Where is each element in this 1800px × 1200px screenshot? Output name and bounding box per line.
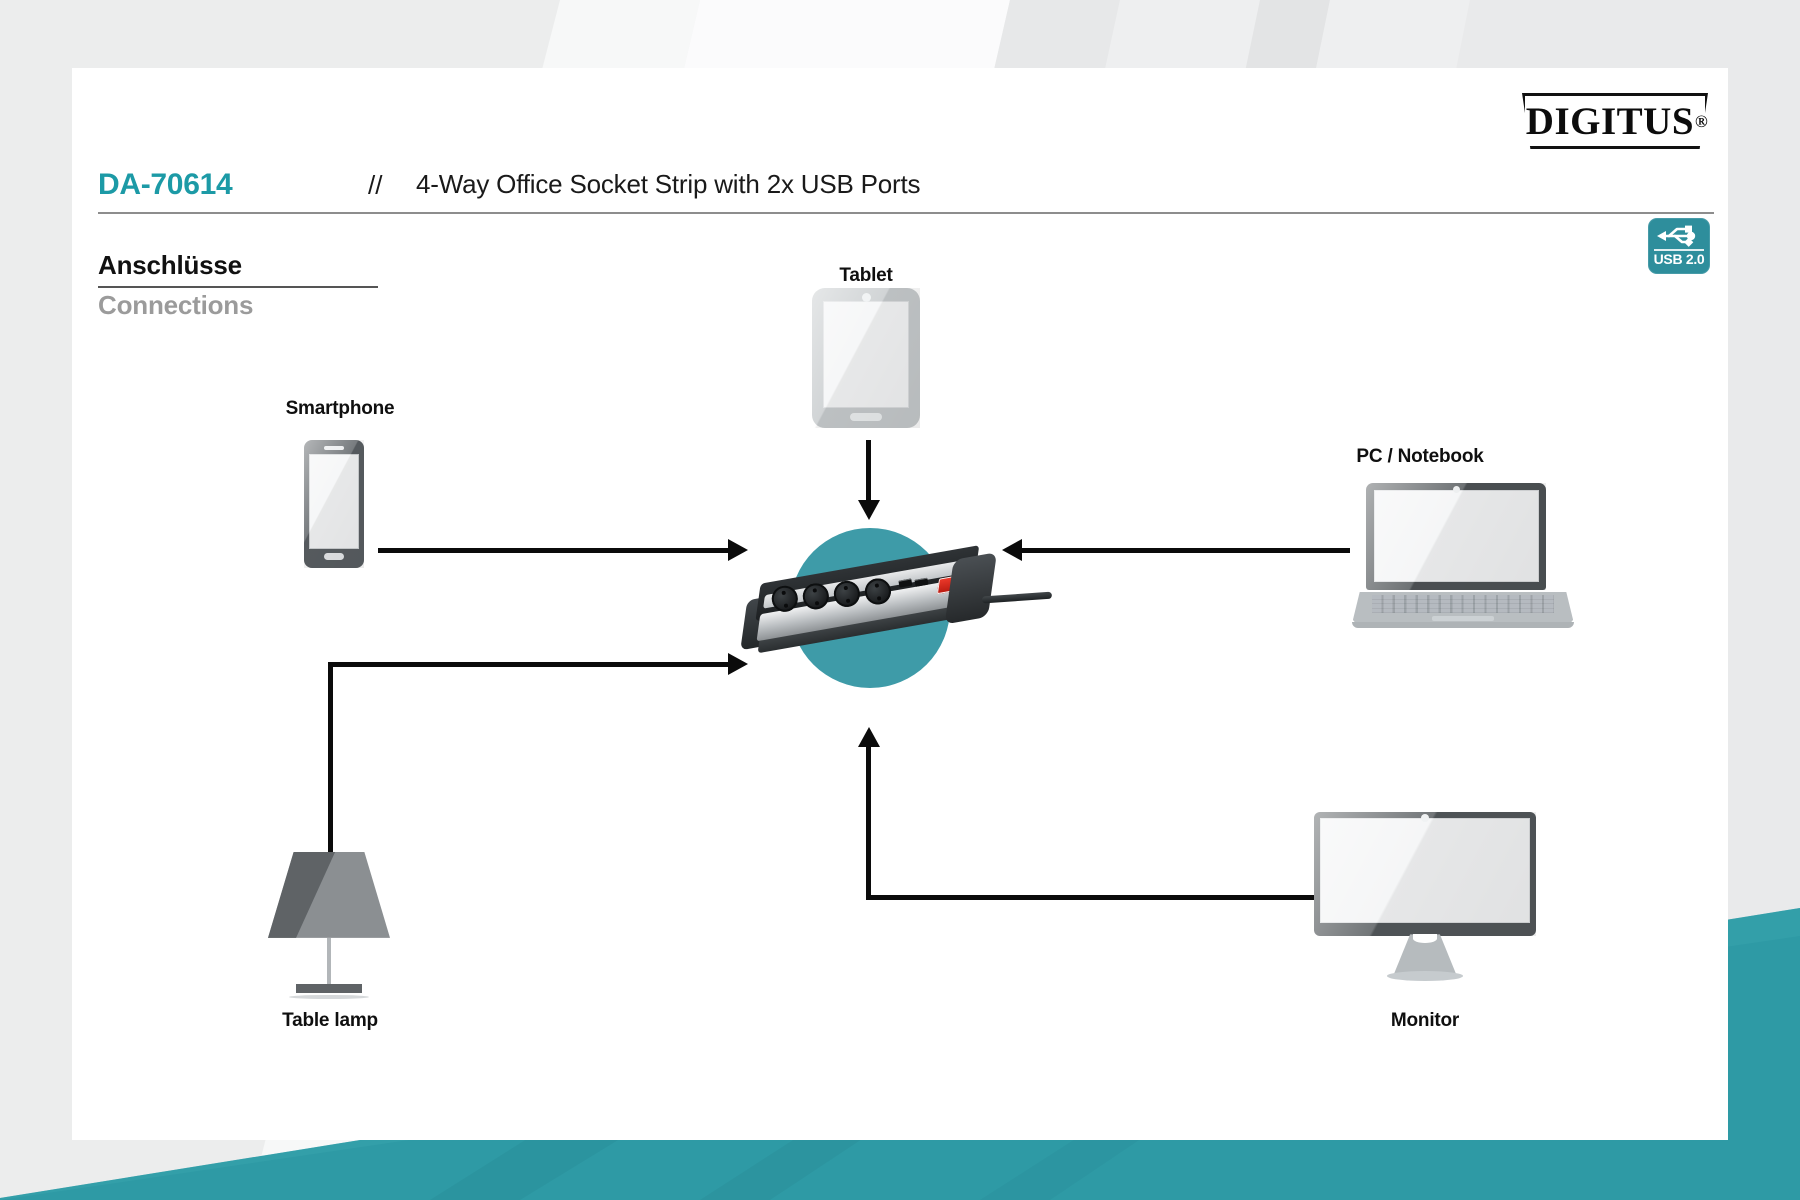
page-canvas: DIGITUS® DA-70614 // 4-Way Office Socket…: [0, 0, 1800, 1200]
device-label-tablet: Tablet: [786, 265, 946, 287]
smartphone-icon: [304, 440, 364, 568]
lamp-ground-shadow: [289, 995, 370, 999]
connector-lamp-horizontal: [328, 662, 734, 667]
smartphone-speaker: [324, 446, 344, 450]
section-title-english: Connections: [98, 290, 253, 321]
laptop-lid: [1366, 483, 1546, 590]
laptop-camera: [1453, 486, 1460, 493]
socket-pin: [781, 591, 786, 596]
section-title-german: Anschlüsse: [98, 250, 242, 281]
tablet-screen: [823, 301, 909, 407]
device-label-laptop: PC / Notebook: [1280, 446, 1560, 468]
monitor-icon: [1314, 812, 1536, 992]
socket-pin: [844, 586, 849, 591]
connector-lamp-vertical: [328, 662, 333, 852]
usb-badge-label: USB 2.0: [1648, 251, 1710, 267]
smartphone-screen: [309, 454, 359, 549]
product-code: DA-70614: [98, 168, 232, 202]
usb-2-0-badge: USB 2.0: [1648, 218, 1710, 274]
arrow-lamp-to-hub: [728, 653, 748, 675]
monitor-bezel: [1314, 812, 1536, 936]
registered-trademark-icon: ®: [1695, 113, 1708, 130]
socket-pin: [875, 583, 880, 588]
connector-monitor-vertical: [866, 745, 871, 900]
laptop-icon: [1352, 483, 1574, 628]
tablet-home-button: [850, 413, 882, 421]
arrow-laptop-to-hub: [1002, 539, 1022, 561]
title-separator: //: [368, 170, 382, 201]
socket-pin: [784, 603, 789, 608]
title-divider: [98, 212, 1714, 214]
socket-pin: [877, 596, 882, 601]
monitor-stand-base: [1387, 971, 1462, 981]
device-label-monitor: Monitor: [1330, 1010, 1520, 1032]
connector-tablet: [866, 440, 871, 505]
product-title-row: DA-70614 // 4-Way Office Socket Strip wi…: [98, 168, 1714, 208]
socket-pin: [846, 598, 851, 603]
arrow-tablet-to-hub: [858, 500, 880, 520]
lamp-base: [296, 984, 362, 994]
digitus-logo: DIGITUS®: [1522, 93, 1708, 149]
smartphone-home-button: [324, 553, 344, 560]
product-name: 4-Way Office Socket Strip with 2x USB Po…: [416, 169, 920, 200]
device-label-table-lamp: Table lamp: [240, 1010, 420, 1032]
table-lamp-icon: [268, 852, 390, 1000]
lamp-stem: [327, 938, 331, 987]
laptop-keyboard-base: [1352, 592, 1574, 624]
arrow-monitor-to-hub: [858, 727, 880, 747]
usb-trident-icon: [1655, 222, 1703, 248]
socket-pin: [815, 601, 820, 606]
tablet-icon: [812, 288, 920, 428]
connector-laptop: [1020, 548, 1350, 553]
laptop-screen: [1374, 490, 1539, 582]
logo-wordmark: DIGITUS®: [1522, 93, 1708, 149]
connector-smartphone: [378, 548, 734, 553]
connector-monitor-horizontal: [866, 895, 1316, 900]
logo-wordmark-text: DIGITUS: [1526, 99, 1694, 144]
device-label-smartphone: Smartphone: [250, 398, 430, 420]
socket-pin: [813, 588, 818, 593]
arrow-smartphone-to-hub: [728, 539, 748, 561]
laptop-keys: [1372, 595, 1554, 613]
section-title-divider: [98, 286, 378, 288]
laptop-foot: [1352, 622, 1574, 628]
tablet-camera: [862, 293, 871, 302]
laptop-trackpad: [1432, 616, 1494, 621]
monitor-screen: [1320, 818, 1530, 922]
